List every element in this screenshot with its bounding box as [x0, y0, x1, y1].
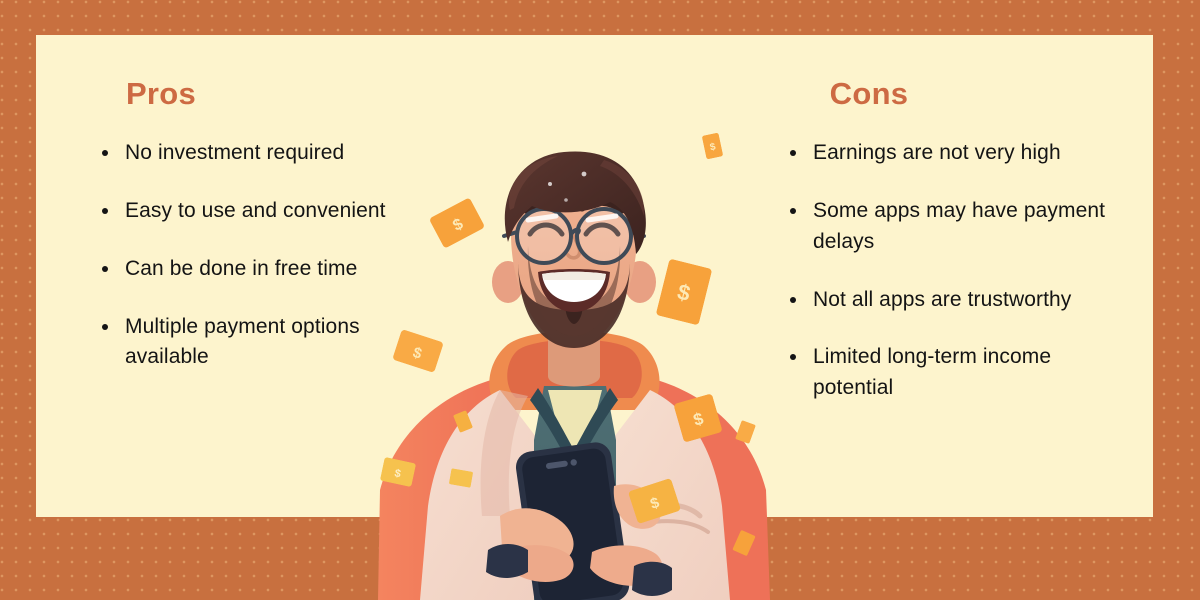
cons-column: Cons Earnings are not very high Some app…	[734, 0, 1164, 431]
list-item: Earnings are not very high	[778, 138, 1136, 169]
list-item: Can be done in free time	[90, 254, 430, 285]
list-item: Not all apps are trustworthy	[778, 285, 1136, 316]
infographic-canvas: $ $ $ $ $ $ $ Pro	[0, 0, 1200, 600]
cons-list: Earnings are not very high Some apps may…	[734, 138, 1136, 404]
list-item: Some apps may have payment delays	[778, 196, 1136, 258]
list-item: Multiple payment options available	[90, 312, 430, 374]
pros-column: Pros No investment required Easy to use …	[36, 0, 466, 400]
list-item: Limited long-term income potential	[778, 342, 1136, 404]
list-item: No investment required	[90, 138, 430, 169]
list-item: Easy to use and convenient	[90, 196, 430, 227]
cons-title: Cons	[734, 0, 1164, 112]
pros-title: Pros	[36, 0, 466, 112]
pros-list: No investment required Easy to use and c…	[36, 138, 430, 373]
